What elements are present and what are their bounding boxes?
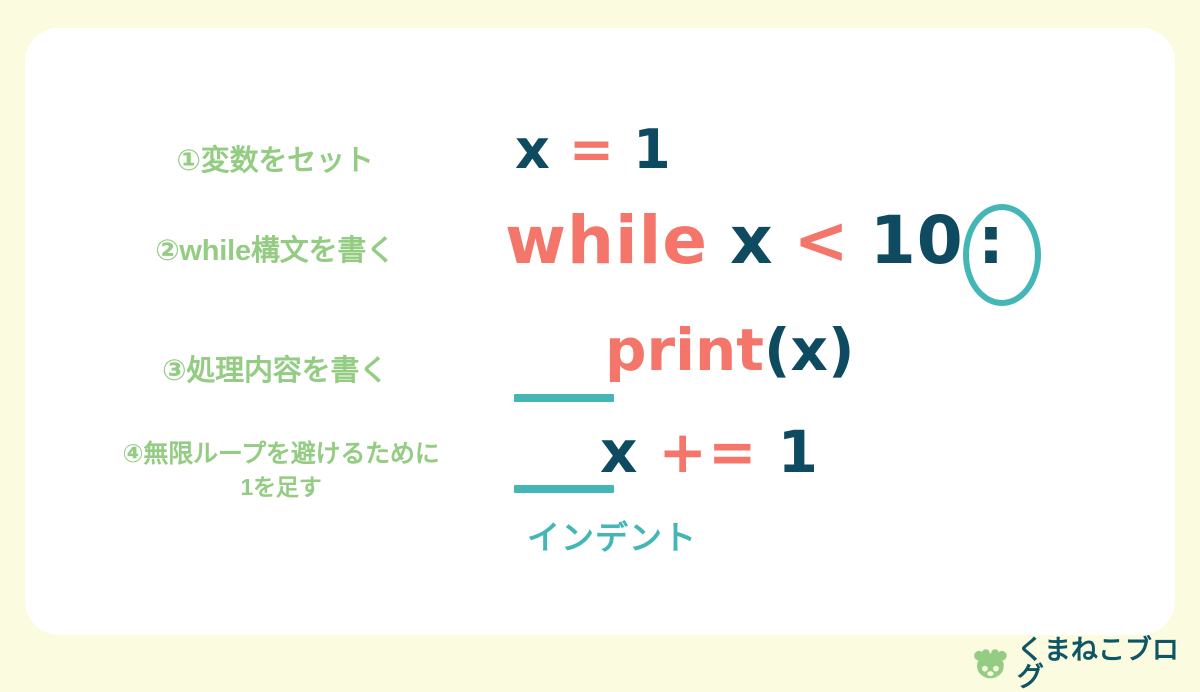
- step-item-4-label: ④無限ループを避けるために: [122, 440, 439, 468]
- step-item-2: ②while構文を書く: [55, 235, 495, 268]
- code-token-print-arguments: (x): [764, 316, 854, 384]
- code-token-function-print: print: [605, 316, 764, 384]
- code-line-assign: x=1: [515, 118, 672, 181]
- indent-underline-print: [514, 394, 614, 402]
- code-token-while-variable-x: x: [730, 202, 774, 279]
- step-item-1: ①変数をセット: [55, 145, 495, 178]
- site-logo: くまねこブログ: [972, 637, 1200, 691]
- step-item-2-label: ②while構文を書く: [155, 235, 395, 267]
- code-token-number-ten: 10: [870, 202, 964, 279]
- site-logo-text: くまねこブログ: [1017, 637, 1200, 691]
- slide-root: ①変数をセット ②while構文を書く ③処理内容を書く ④無限ループを避けるた…: [0, 0, 1200, 675]
- code-line-print: print(x): [605, 316, 854, 384]
- step-item-4-sublabel: 1を足す: [55, 474, 507, 500]
- step-item-3-label: ③処理内容を書く: [162, 355, 388, 387]
- step-item-1-label: ①変数をセット: [176, 145, 373, 177]
- code-token-operator-plus-equals: +=: [658, 418, 757, 486]
- code-token-operator-equals: =: [569, 118, 615, 181]
- step-item-4: ④無限ループを避けるために 1を足す: [55, 440, 507, 500]
- code-token-operator-less-than: <: [794, 202, 850, 279]
- indent-underline-increment: [514, 485, 614, 493]
- code-token-number-one: 1: [633, 118, 672, 181]
- indent-annotation-label: インデント: [527, 511, 697, 559]
- colon-highlight-ellipse: [963, 204, 1041, 306]
- step-item-3: ③処理内容を書く: [55, 355, 495, 388]
- code-line-while: whilex<10:: [505, 202, 1005, 279]
- code-token-keyword-while: while: [505, 202, 708, 279]
- code-token-variable-x: x: [515, 118, 551, 181]
- code-token-increment-variable-x: x: [600, 418, 638, 486]
- code-line-increment: x+=1: [600, 418, 819, 486]
- code-token-increment-number-one: 1: [778, 418, 819, 486]
